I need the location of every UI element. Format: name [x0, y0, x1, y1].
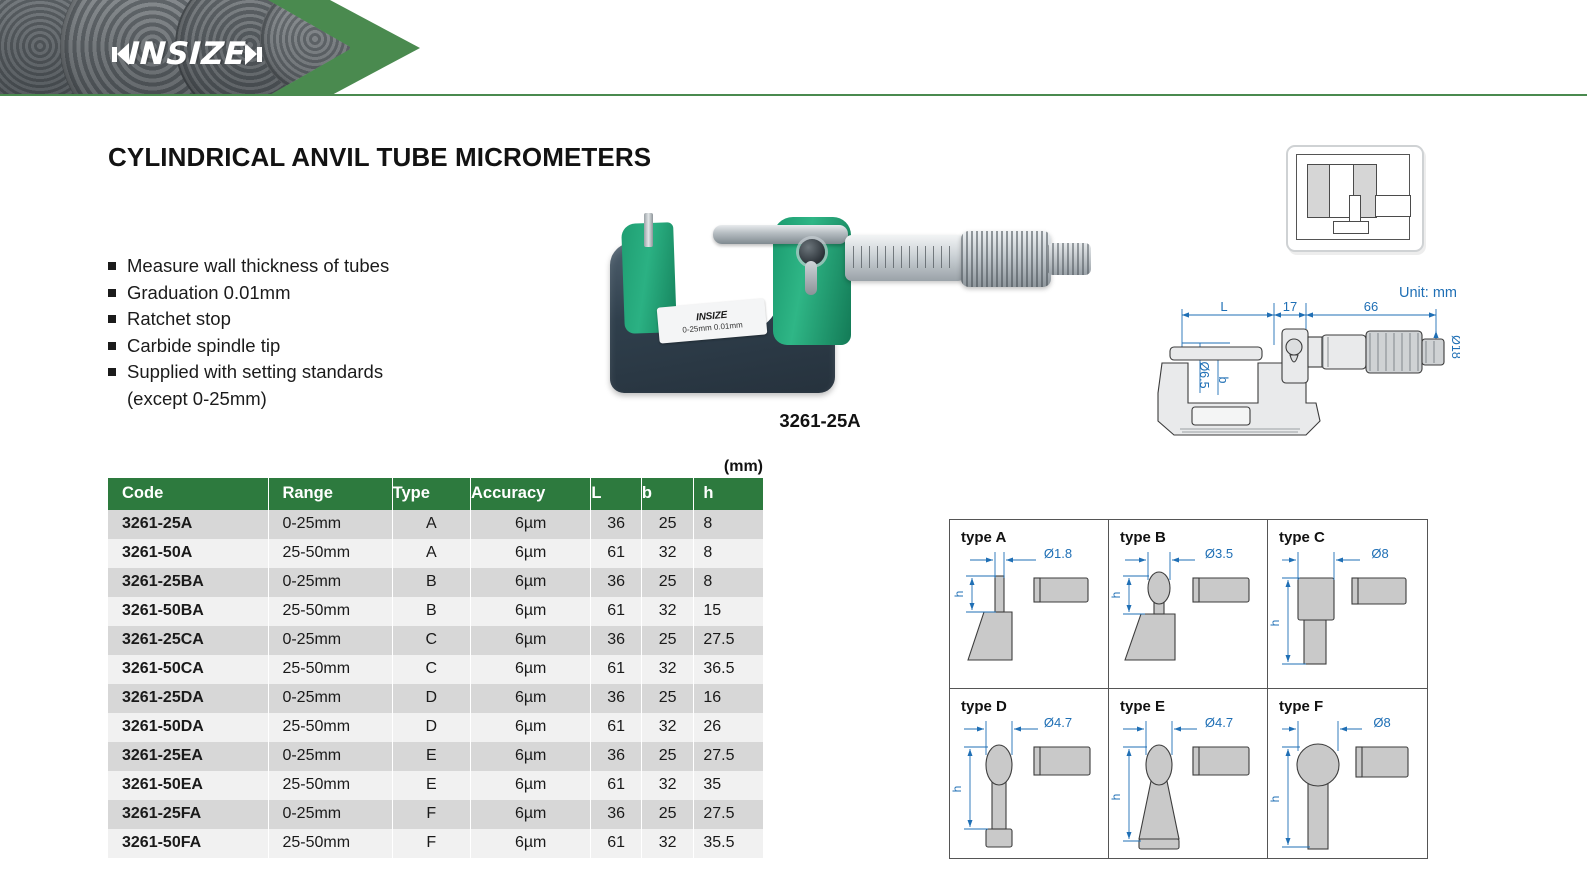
- cell-l: 36: [591, 568, 642, 597]
- cell-code: 3261-50BA: [108, 597, 269, 626]
- feature-text: Supplied with setting standards: [127, 360, 383, 385]
- type-panel-f: type F Ø8 h: [1268, 689, 1427, 858]
- cylindrical-anvil: [644, 213, 653, 247]
- type-c-diameter: Ø8: [1371, 546, 1388, 561]
- cell-accuracy: 6µm: [471, 597, 591, 626]
- column-header-h: h: [694, 478, 763, 510]
- technical-drawing: Unit: mm: [1130, 285, 1460, 450]
- cell-b: 25: [641, 626, 694, 655]
- list-item: Measure wall thickness of tubes: [108, 254, 538, 279]
- dim-L: L: [1220, 299, 1227, 314]
- type-b-diameter: Ø3.5: [1205, 546, 1233, 561]
- cell-range: 0-25mm: [269, 684, 392, 713]
- insize-logo: INSIZE: [98, 34, 276, 74]
- cell-range: 0-25mm: [269, 568, 392, 597]
- cell-h: 8: [694, 510, 763, 539]
- cell-b: 25: [641, 510, 694, 539]
- cell-code: 3261-25BA: [108, 568, 269, 597]
- cell-l: 61: [591, 655, 642, 684]
- cell-b: 25: [641, 684, 694, 713]
- column-header-accuracy: Accuracy: [471, 478, 591, 510]
- unit-label: Unit: mm: [1399, 285, 1457, 301]
- column-header-code: Code: [108, 478, 269, 510]
- cell-l: 61: [591, 829, 642, 858]
- cell-type: E: [392, 742, 470, 771]
- cell-b: 32: [641, 655, 694, 684]
- scale-graduations: [853, 246, 953, 268]
- type-f-height-symbol: h: [1268, 796, 1282, 803]
- cell-h: 15: [694, 597, 763, 626]
- table-row[interactable]: 3261-25EA 0-25mm E 6µm 36 25 27.5: [108, 742, 763, 771]
- dim-dia6-5: Ø6.5: [1197, 361, 1211, 388]
- cell-code: 3261-50EA: [108, 771, 269, 800]
- type-panel-d: type D Ø4.7: [950, 689, 1109, 858]
- cell-b: 32: [641, 597, 694, 626]
- square-bullet-icon: [108, 315, 116, 323]
- square-bullet-icon: [108, 368, 116, 376]
- cell-code: 3261-25EA: [108, 742, 269, 771]
- table-row[interactable]: 3261-50BA 25-50mm B 6µm 61 32 15: [108, 597, 763, 626]
- spindle: [713, 225, 848, 244]
- table-row[interactable]: 3261-25A 0-25mm A 6µm 36 25 8: [108, 510, 763, 539]
- cell-code: 3261-25FA: [108, 800, 269, 829]
- cell-range: 25-50mm: [269, 539, 392, 568]
- table-row[interactable]: 3261-50FA 25-50mm F 6µm 61 32 35.5: [108, 829, 763, 858]
- cell-type: F: [392, 829, 470, 858]
- feature-text: Ratchet stop: [127, 307, 231, 332]
- cell-b: 25: [641, 800, 694, 829]
- cell-code: 3261-50DA: [108, 713, 269, 742]
- feature-text: Graduation 0.01mm: [127, 281, 291, 306]
- page-header-banner: INSIZE: [0, 0, 1587, 96]
- cell-b: 32: [641, 829, 694, 858]
- cell-b: 25: [641, 742, 694, 771]
- type-panel-a: type A Ø1.8 h: [950, 520, 1109, 689]
- cell-l: 61: [591, 597, 642, 626]
- type-d-diameter: Ø4.7: [1044, 715, 1072, 730]
- type-panel-c: type C Ø8 h: [1268, 520, 1427, 689]
- cell-l: 36: [591, 800, 642, 829]
- type-a-height-symbol: h: [952, 591, 966, 598]
- dim-17: 17: [1283, 299, 1297, 314]
- column-header-type: Type: [392, 478, 470, 510]
- anvil-type-grid: type A Ø1.8 h: [949, 519, 1428, 859]
- cell-accuracy: 6µm: [471, 684, 591, 713]
- cell-type: A: [392, 510, 470, 539]
- dim-66: 66: [1364, 299, 1378, 314]
- cell-h: 27.5: [694, 626, 763, 655]
- cell-accuracy: 6µm: [471, 568, 591, 597]
- cell-code: 3261-25CA: [108, 626, 269, 655]
- square-bullet-icon: [108, 342, 116, 350]
- list-item: Ratchet stop: [108, 307, 538, 332]
- cell-range: 0-25mm: [269, 742, 392, 771]
- table-unit-label: (mm): [108, 458, 763, 476]
- cell-accuracy: 6µm: [471, 655, 591, 684]
- cell-code: 3261-25A: [108, 510, 269, 539]
- cell-h: 8: [694, 539, 763, 568]
- specifications-table: Code Range Type Accuracy L b h 3261-25A …: [108, 478, 763, 858]
- cell-h: 27.5: [694, 800, 763, 829]
- cell-accuracy: 6µm: [471, 829, 591, 858]
- table-row[interactable]: 3261-50A 25-50mm A 6µm 61 32 8: [108, 539, 763, 568]
- dim-b: b: [1216, 377, 1230, 384]
- cell-type: A: [392, 539, 470, 568]
- type-label-c: type C: [1279, 529, 1325, 546]
- table-row[interactable]: 3261-25CA 0-25mm C 6µm 36 25 27.5: [108, 626, 763, 655]
- feature-list: Measure wall thickness of tubes Graduati…: [108, 254, 538, 411]
- diagram-block-f: [1333, 221, 1369, 234]
- type-label-e: type E: [1120, 698, 1165, 715]
- table-row[interactable]: 3261-50EA 25-50mm E 6µm 61 32 35: [108, 771, 763, 800]
- feature-continuation-text: (except 0-25mm): [127, 387, 538, 412]
- header-rule: [0, 94, 1587, 96]
- cell-h: 36.5: [694, 655, 763, 684]
- cell-h: 16: [694, 684, 763, 713]
- list-item: Supplied with setting standards: [108, 360, 538, 385]
- type-e-height-symbol: h: [1109, 794, 1123, 801]
- sleeve-scale: [845, 235, 965, 281]
- type-a-diameter: Ø1.8: [1044, 546, 1072, 561]
- cell-accuracy: 6µm: [471, 713, 591, 742]
- application-icon-box: [1286, 145, 1424, 252]
- product-photo: INSIZE 0-25mm 0.01mm: [595, 195, 1125, 410]
- thimble: [961, 231, 1051, 287]
- cell-range: 25-50mm: [269, 597, 392, 626]
- cell-type: C: [392, 626, 470, 655]
- type-panel-b: type B Ø3.5: [1109, 520, 1268, 689]
- cell-h: 35.5: [694, 829, 763, 858]
- cell-type: E: [392, 771, 470, 800]
- cell-type: B: [392, 568, 470, 597]
- cell-type: B: [392, 597, 470, 626]
- application-diagram: [1296, 154, 1410, 240]
- cell-accuracy: 6µm: [471, 800, 591, 829]
- technical-drawing-svg: L 17 66 Ø18 Ø6.5 b: [1130, 285, 1460, 450]
- cell-code: 3261-50CA: [108, 655, 269, 684]
- column-header-b: b: [641, 478, 694, 510]
- logo-arrow-right-icon: [245, 43, 257, 65]
- cell-type: F: [392, 800, 470, 829]
- column-header-l: L: [591, 478, 642, 510]
- sticker-spec: 0-25mm 0.01mm: [682, 320, 743, 334]
- table-row[interactable]: 3261-25DA 0-25mm D 6µm 36 25 16: [108, 684, 763, 713]
- cell-code: 3261-50FA: [108, 829, 269, 858]
- cell-b: 32: [641, 713, 694, 742]
- cell-l: 61: [591, 713, 642, 742]
- table-row[interactable]: 3261-50CA 25-50mm C 6µm 61 32 36.5: [108, 655, 763, 684]
- cell-l: 36: [591, 510, 642, 539]
- cell-type: D: [392, 713, 470, 742]
- square-bullet-icon: [108, 289, 116, 297]
- type-label-d: type D: [961, 698, 1007, 715]
- type-e-diameter: Ø4.7: [1205, 715, 1233, 730]
- type-c-height-symbol: h: [1268, 620, 1282, 627]
- cell-l: 36: [591, 684, 642, 713]
- type-label-a: type A: [961, 529, 1006, 546]
- ratchet-stop: [1047, 243, 1091, 275]
- cell-accuracy: 6µm: [471, 742, 591, 771]
- type-b-height-symbol: h: [1109, 592, 1123, 599]
- dim-dia18: Ø18: [1449, 335, 1460, 359]
- table-row[interactable]: 3261-25FA 0-25mm F 6µm 36 25 27.5: [108, 800, 763, 829]
- page-title: CYLINDRICAL ANVIL TUBE MICROMETERS: [108, 142, 651, 173]
- cell-h: 8: [694, 568, 763, 597]
- cell-range: 25-50mm: [269, 655, 392, 684]
- column-header-range: Range: [269, 478, 392, 510]
- feature-text: Carbide spindle tip: [127, 334, 280, 359]
- table-header-row: Code Range Type Accuracy L b h: [108, 478, 763, 510]
- cell-range: 0-25mm: [269, 510, 392, 539]
- cell-b: 25: [641, 568, 694, 597]
- cell-type: D: [392, 684, 470, 713]
- type-panel-e: type E Ø4.7: [1109, 689, 1268, 858]
- feature-text: Measure wall thickness of tubes: [127, 254, 389, 279]
- cell-range: 25-50mm: [269, 771, 392, 800]
- cell-l: 61: [591, 539, 642, 568]
- table-row[interactable]: 3261-50DA 25-50mm D 6µm 61 32 26: [108, 713, 763, 742]
- logo-wordmark: INSIZE: [127, 36, 247, 72]
- cell-range: 25-50mm: [269, 713, 392, 742]
- cell-l: 36: [591, 626, 642, 655]
- square-bullet-icon: [108, 262, 116, 270]
- cell-h: 26: [694, 713, 763, 742]
- type-d-height-symbol: h: [950, 786, 964, 793]
- cell-range: 0-25mm: [269, 626, 392, 655]
- cell-accuracy: 6µm: [471, 539, 591, 568]
- cell-h: 35: [694, 771, 763, 800]
- cell-b: 32: [641, 771, 694, 800]
- cell-accuracy: 6µm: [471, 626, 591, 655]
- type-label-b: type B: [1120, 529, 1166, 546]
- cell-accuracy: 6µm: [471, 510, 591, 539]
- diagram-block-e: [1375, 195, 1411, 217]
- cell-h: 27.5: [694, 742, 763, 771]
- lock-lever: [805, 261, 817, 295]
- cell-l: 61: [591, 771, 642, 800]
- type-f-diameter: Ø8: [1373, 715, 1390, 730]
- cell-code: 3261-50A: [108, 539, 269, 568]
- cell-type: C: [392, 655, 470, 684]
- cell-range: 25-50mm: [269, 829, 392, 858]
- cell-code: 3261-25DA: [108, 684, 269, 713]
- diagram-block-a: [1307, 164, 1331, 218]
- table-row[interactable]: 3261-25BA 0-25mm B 6µm 36 25 8: [108, 568, 763, 597]
- cell-range: 0-25mm: [269, 800, 392, 829]
- type-label-f: type F: [1279, 698, 1323, 715]
- cell-accuracy: 6µm: [471, 771, 591, 800]
- cell-b: 32: [641, 539, 694, 568]
- logo-bar-right: [257, 47, 262, 62]
- cell-l: 36: [591, 742, 642, 771]
- list-item: Graduation 0.01mm: [108, 281, 538, 306]
- product-code-caption: 3261-25A: [595, 410, 1045, 432]
- list-item: Carbide spindle tip: [108, 334, 538, 359]
